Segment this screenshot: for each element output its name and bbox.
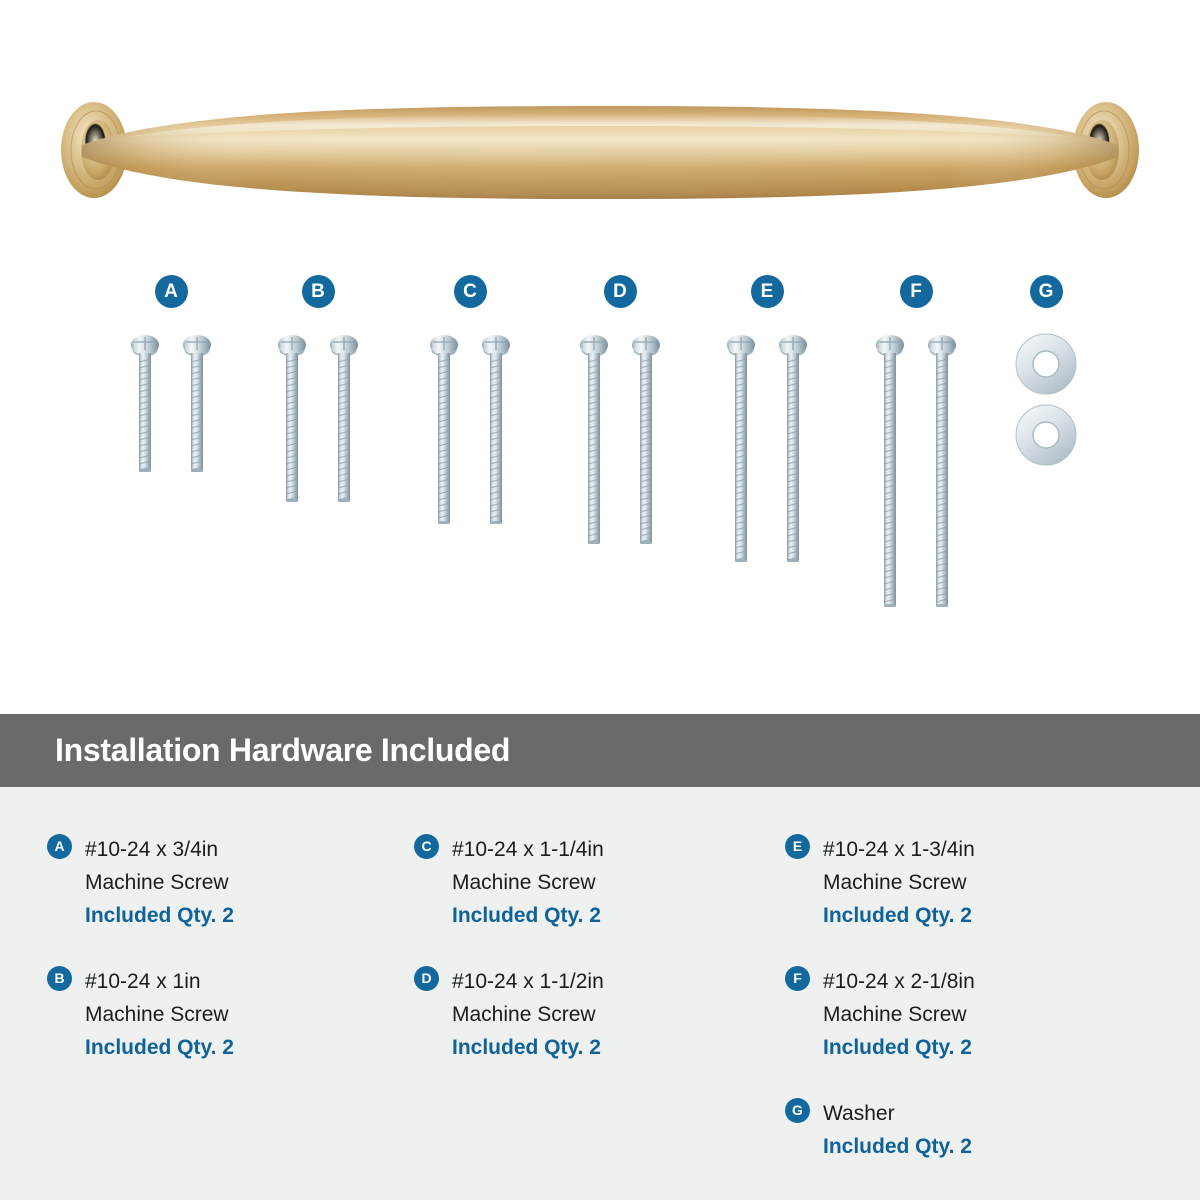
screw-F-1 <box>875 332 905 607</box>
legend-qty-D: Included Qty. 2 <box>452 1031 754 1064</box>
legend-badge-B: B <box>47 966 72 991</box>
diagram-group-D: D <box>560 275 680 308</box>
diagram-group-A: A <box>111 275 231 308</box>
legend-item-A: A #10-24 x 3/4in Machine Screw Included … <box>47 833 387 932</box>
legend-type-C: Machine Screw <box>452 866 754 899</box>
legend-item-C: C #10-24 x 1-1/4in Machine Screw Include… <box>414 833 754 932</box>
hardware-legend-panel: A #10-24 x 3/4in Machine Screw Included … <box>0 787 1200 1200</box>
legend-item-F: F #10-24 x 2-1/8in Machine Screw Include… <box>785 965 1125 1064</box>
page-title: Installation Hardware Included <box>55 732 510 769</box>
legend-badge-D: D <box>414 966 439 991</box>
screw-C-2 <box>481 332 511 524</box>
screw-D-2 <box>631 332 661 544</box>
diagram-badge-D: D <box>604 275 637 308</box>
legend-size-A: #10-24 x 3/4in <box>85 833 387 866</box>
washer-1 <box>1014 332 1078 396</box>
diagram-badge-G: G <box>1030 275 1063 308</box>
diagram-badge-E: E <box>751 275 784 308</box>
diagram-badge-B: B <box>302 275 335 308</box>
legend-size-B: #10-24 x 1in <box>85 965 387 998</box>
screw-F-2 <box>927 332 957 607</box>
legend-badge-G: G <box>785 1098 810 1123</box>
screw-pair-A <box>111 332 231 472</box>
legend-badge-A: A <box>47 834 72 859</box>
screw-C-1 <box>429 332 459 524</box>
screw-E-2 <box>778 332 808 562</box>
screw-pair-F <box>856 332 976 607</box>
legend-qty-B: Included Qty. 2 <box>85 1031 387 1064</box>
screw-pair-C <box>410 332 530 524</box>
legend-size-C: #10-24 x 1-1/4in <box>452 833 754 866</box>
screw-B-1 <box>277 332 307 502</box>
diagram-group-F: F <box>856 275 976 308</box>
diagram-badge-C: C <box>454 275 487 308</box>
product-image-area: A <box>0 0 1200 714</box>
legend-qty-E: Included Qty. 2 <box>823 899 1125 932</box>
screw-pair-D <box>560 332 680 544</box>
screw-D-1 <box>579 332 609 544</box>
legend-badge-F: F <box>785 966 810 991</box>
legend-size-F: #10-24 x 2-1/8in <box>823 965 1125 998</box>
legend-type-B: Machine Screw <box>85 998 387 1031</box>
legend-type-F: Machine Screw <box>823 998 1125 1031</box>
hardware-diagram: A <box>0 275 1200 645</box>
legend-size-E: #10-24 x 1-3/4in <box>823 833 1125 866</box>
diagram-group-B: B <box>258 275 378 308</box>
diagram-badge-F: F <box>900 275 933 308</box>
legend-qty-C: Included Qty. 2 <box>452 899 754 932</box>
screw-B-2 <box>329 332 359 502</box>
legend-badge-C: C <box>414 834 439 859</box>
legend-column-2: C #10-24 x 1-1/4in Machine Screw Include… <box>414 833 754 1097</box>
washer-2 <box>1014 403 1078 467</box>
diagram-group-C: C <box>410 275 530 308</box>
legend-type-A: Machine Screw <box>85 866 387 899</box>
legend-badge-E: E <box>785 834 810 859</box>
diagram-group-E: E <box>707 275 827 308</box>
legend-type-D: Machine Screw <box>452 998 754 1031</box>
legend-qty-G: Included Qty. 2 <box>823 1130 1125 1163</box>
legend-item-D: D #10-24 x 1-1/2in Machine Screw Include… <box>414 965 754 1064</box>
legend-column-3: E #10-24 x 1-3/4in Machine Screw Include… <box>785 833 1125 1196</box>
screw-pair-B <box>258 332 378 502</box>
legend-item-G: G Washer Included Qty. 2 <box>785 1097 1125 1163</box>
screw-pair-E <box>707 332 827 562</box>
cabinet-pull-handle <box>52 95 1148 205</box>
legend-qty-F: Included Qty. 2 <box>823 1031 1125 1064</box>
washer-stack-G <box>986 332 1106 467</box>
screw-E-1 <box>726 332 756 562</box>
legend-size-G: Washer <box>823 1097 1125 1130</box>
screw-A-2 <box>182 332 212 472</box>
screw-A-1 <box>130 332 160 472</box>
hardware-title-bar: Installation Hardware Included <box>0 714 1200 787</box>
legend-column-1: A #10-24 x 3/4in Machine Screw Included … <box>47 833 387 1097</box>
legend-item-E: E #10-24 x 1-3/4in Machine Screw Include… <box>785 833 1125 932</box>
diagram-badge-A: A <box>155 275 188 308</box>
diagram-group-G: G <box>986 275 1106 308</box>
legend-item-B: B #10-24 x 1in Machine Screw Included Qt… <box>47 965 387 1064</box>
legend-qty-A: Included Qty. 2 <box>85 899 387 932</box>
legend-type-E: Machine Screw <box>823 866 1125 899</box>
legend-size-D: #10-24 x 1-1/2in <box>452 965 754 998</box>
